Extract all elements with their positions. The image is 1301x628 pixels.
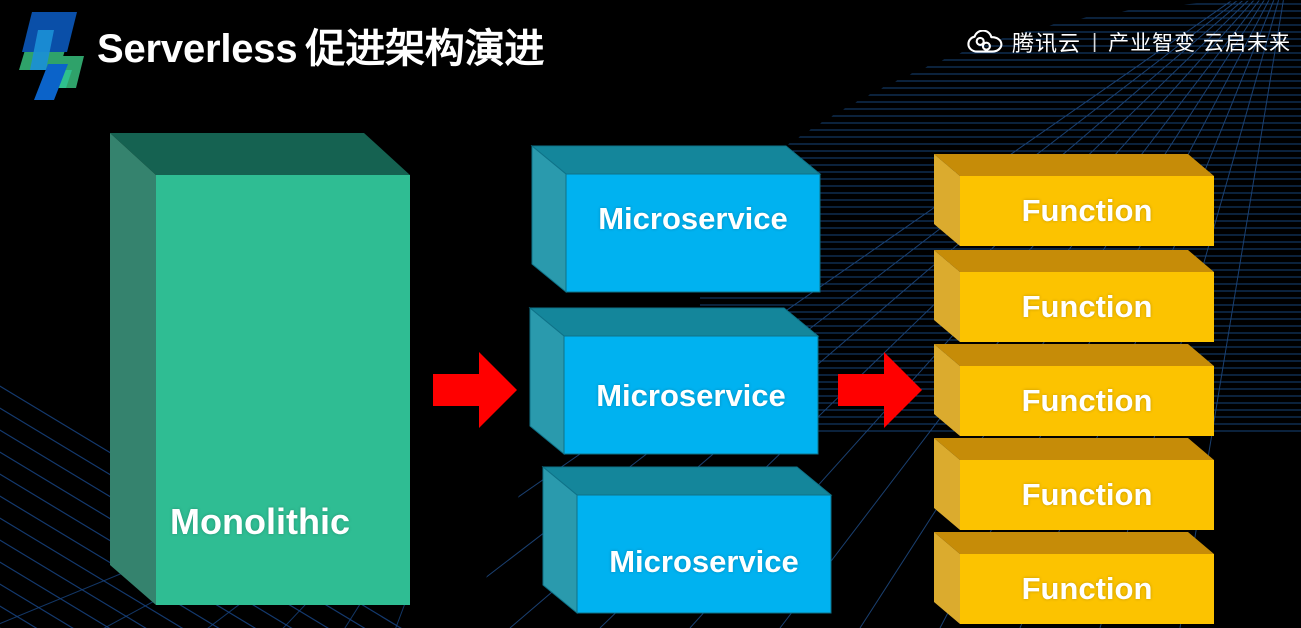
slide-header: Serverless促进架构演进 腾讯云 | 产业智变 云启未来 — [0, 0, 1301, 104]
function-box-3[interactable]: Function — [934, 344, 1214, 436]
corporate-name: 腾讯云 — [1012, 26, 1081, 58]
corporate-slogan: 产业智变 云启未来 — [1108, 27, 1291, 57]
arrow-microservice-to-function — [838, 352, 922, 433]
function-label-1: Function — [960, 193, 1214, 229]
function-label-2: Function — [960, 289, 1214, 325]
page-title-en: Serverless — [97, 27, 297, 71]
function-box-1[interactable]: Function — [934, 154, 1214, 246]
function-box-4[interactable]: Function — [934, 438, 1214, 530]
page-title: Serverless促进架构演进 — [97, 21, 544, 77]
function-label-5: Function — [960, 571, 1214, 607]
function-box-5[interactable]: Function — [934, 532, 1214, 624]
microservice-label-3: Microservice — [577, 544, 831, 580]
microservice-box-2[interactable]: Microservice — [530, 308, 818, 454]
arrow-monolithic-to-microservice — [433, 352, 517, 433]
microservice-label-1: Microservice — [566, 201, 820, 237]
corporate-divider: | — [1092, 31, 1097, 54]
microservice-box-3[interactable]: Microservice — [543, 467, 831, 613]
tencent-serverless-logo — [8, 8, 94, 100]
function-label-3: Function — [960, 383, 1214, 419]
monolithic-label: Monolithic — [110, 501, 410, 543]
function-label-4: Function — [960, 477, 1214, 513]
slide-canvas: Serverless促进架构演进 腾讯云 | 产业智变 云启未来 — [0, 0, 1301, 628]
page-title-cn: 促进架构演进 — [305, 27, 544, 71]
microservice-box-1[interactable]: Microservice — [532, 146, 820, 292]
tencent-cloud-icon — [967, 30, 1003, 54]
function-box-2[interactable]: Function — [934, 250, 1214, 342]
monolithic-box[interactable]: Monolithic — [110, 133, 410, 605]
corporate-lockup: 腾讯云 | 产业智变 云启未来 — [967, 26, 1291, 58]
microservice-label-2: Microservice — [564, 378, 818, 414]
